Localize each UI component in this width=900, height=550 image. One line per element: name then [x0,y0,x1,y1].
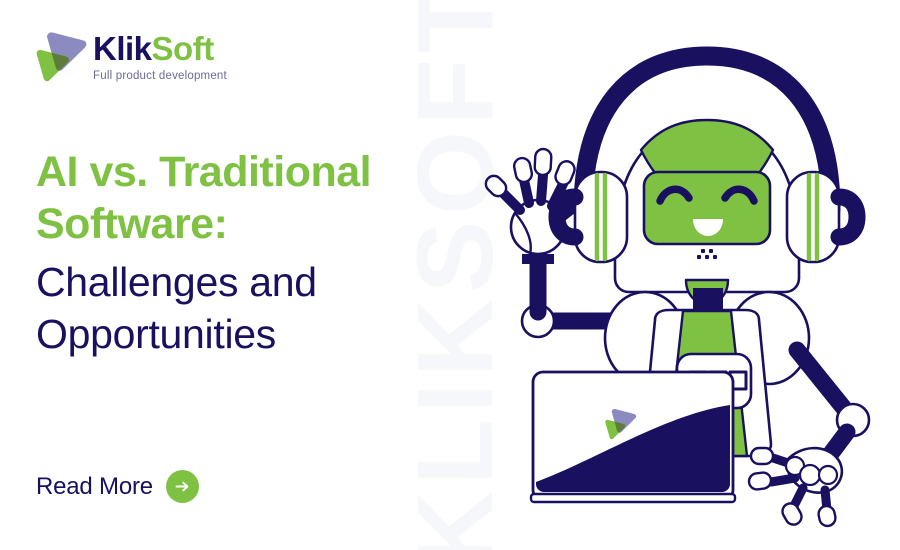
headline-secondary: Challenges and Opportunities [36,256,466,361]
laptop [531,372,735,502]
page-title: AI vs. Traditional Software: Challenges … [36,146,466,361]
logo-word-klik: Klik [93,30,152,67]
logo-mark-icon [33,26,87,82]
face-screen [644,172,770,244]
brand-logo[interactable]: KlikSoft Full product development [33,26,227,82]
logo-tagline: Full product development [93,70,227,82]
blog-banner: KLIKSOFT KlikSoft Full product developme… [0,0,900,550]
logo-wordmark: KlikSoft [93,32,227,65]
logo-word-soft: Soft [152,30,214,67]
arrow-right-icon[interactable] [166,470,199,503]
read-more-button[interactable]: Read More [36,470,199,503]
headline-primary: AI vs. Traditional Software: [36,146,466,251]
robot-illustration [455,20,900,540]
read-more-label: Read More [36,473,153,501]
